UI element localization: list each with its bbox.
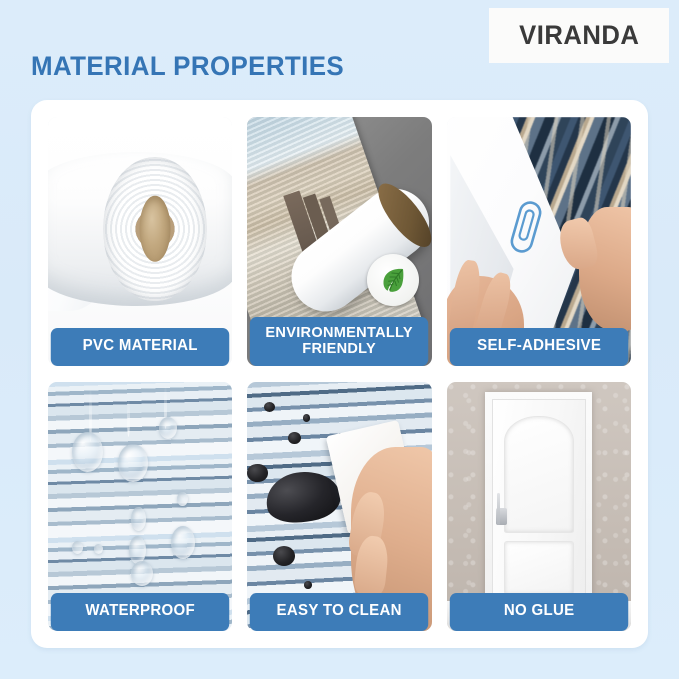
water-droplet [72, 541, 83, 553]
feature-label-environmentally-friendly: ENVIRONMENTALLY FRIENDLY [250, 317, 429, 366]
door-frame [485, 392, 592, 611]
water-droplet [159, 417, 177, 439]
feature-card-easy-to-clean[interactable]: EASY TO CLEAN [247, 382, 431, 631]
stain-smear [262, 466, 343, 527]
feature-label-no-glue: NO GLUE [449, 593, 628, 631]
door-panel-top [504, 416, 574, 533]
water-droplet [72, 432, 103, 472]
feature-card-environmentally-friendly[interactable]: ENVIRONMENTALLY FRIENDLY [247, 117, 431, 366]
feature-panel: PVC MATERIAL [31, 100, 648, 648]
brand-logo: VIRANDA [489, 8, 669, 63]
feature-label-pvc-material: PVC MATERIAL [51, 328, 230, 366]
feature-card-no-glue[interactable]: NO GLUE [447, 382, 631, 631]
brand-logo-text: VIRANDA [519, 20, 639, 51]
door-leaf [492, 399, 586, 609]
water-trail [127, 397, 130, 437]
feature-label-self-adhesive: SELF-ADHESIVE [449, 328, 628, 366]
water-droplet [129, 536, 146, 563]
page-title: MATERIAL PROPERTIES [31, 51, 344, 82]
stain-spot [264, 402, 275, 412]
stain-spot [303, 414, 310, 421]
stain-spot [304, 581, 311, 588]
feature-card-waterproof[interactable]: WATERPROOF [48, 382, 232, 631]
feature-label-easy-to-clean: EASY TO CLEAN [250, 593, 429, 631]
water-droplet [118, 444, 147, 481]
stain-spot [288, 432, 301, 444]
green-leaf-icon [367, 254, 419, 306]
roll-core-shape [139, 196, 170, 262]
page-header: VIRANDA MATERIAL PROPERTIES [0, 0, 679, 100]
door-handle-icon [496, 508, 508, 525]
stain-spot [247, 464, 267, 481]
water-droplet [94, 544, 103, 554]
feature-grid: PVC MATERIAL [48, 117, 631, 631]
feature-card-self-adhesive[interactable]: SELF-ADHESIVE [447, 117, 631, 366]
roll-face-shape [103, 157, 206, 301]
stain-spot [273, 546, 295, 566]
water-droplet [131, 561, 153, 586]
water-droplet [177, 492, 188, 507]
door-panel-bottom [504, 541, 574, 595]
water-droplet [131, 507, 146, 532]
feature-card-pvc-material[interactable]: PVC MATERIAL [48, 117, 232, 366]
water-droplet [171, 526, 195, 558]
feature-label-waterproof: WATERPROOF [51, 593, 230, 631]
